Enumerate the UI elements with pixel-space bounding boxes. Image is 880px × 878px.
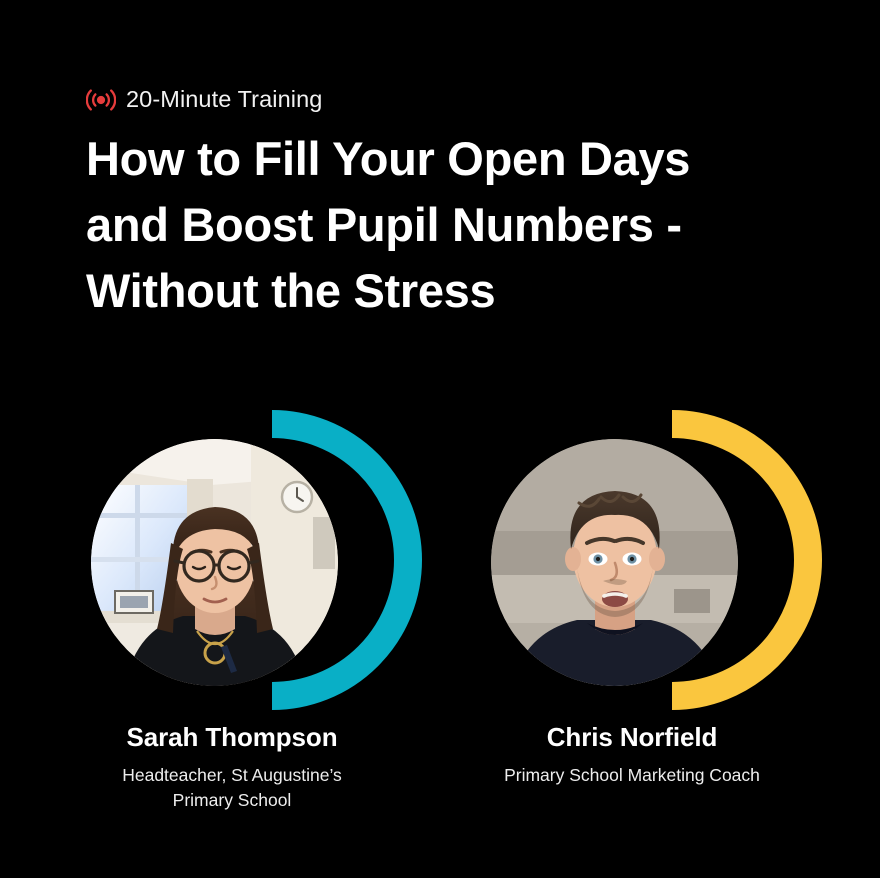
eyebrow-label: 20-Minute Training bbox=[126, 88, 322, 112]
speaker-role: Primary School Marketing Coach bbox=[422, 763, 842, 788]
chris-norfield-portrait-illustration bbox=[491, 439, 738, 686]
sarah-thompson-portrait-illustration bbox=[91, 439, 338, 686]
page-title: How to Fill Your Open Days and Boost Pup… bbox=[86, 126, 786, 324]
webinar-promo-slide: 20-Minute Training How to Fill Your Open… bbox=[0, 0, 880, 878]
speaker-photo-sarah-thompson bbox=[91, 439, 338, 686]
speaker-name-block-chris-norfield: Chris Norfield Primary School Marketing … bbox=[422, 722, 842, 788]
headline-line-2: and Boost Pupil Numbers - bbox=[86, 192, 786, 258]
speaker-name: Sarah Thompson bbox=[22, 722, 442, 753]
speaker-role-line-2: Primary School bbox=[173, 790, 292, 810]
speaker-name: Chris Norfield bbox=[422, 722, 842, 753]
speaker-name-block-sarah-thompson: Sarah Thompson Headteacher, St Augustine… bbox=[22, 722, 442, 812]
eyebrow-badge: 20-Minute Training bbox=[86, 82, 322, 118]
avatar bbox=[82, 400, 382, 712]
avatar bbox=[482, 400, 782, 712]
headline-line-3: Without the Stress bbox=[86, 258, 786, 324]
live-broadcast-icon bbox=[86, 87, 116, 113]
speaker-photo-chris-norfield bbox=[491, 439, 738, 686]
speaker-card-chris-norfield: Chris Norfield Primary School Marketing … bbox=[422, 400, 842, 712]
headline-line-1: How to Fill Your Open Days bbox=[86, 126, 786, 192]
speaker-role: Headteacher, St Augustine’s Primary Scho… bbox=[82, 763, 382, 812]
speaker-card-sarah-thompson: Sarah Thompson Headteacher, St Augustine… bbox=[22, 400, 442, 712]
speaker-role-line-1: Headteacher, St Augustine’s bbox=[122, 765, 342, 785]
